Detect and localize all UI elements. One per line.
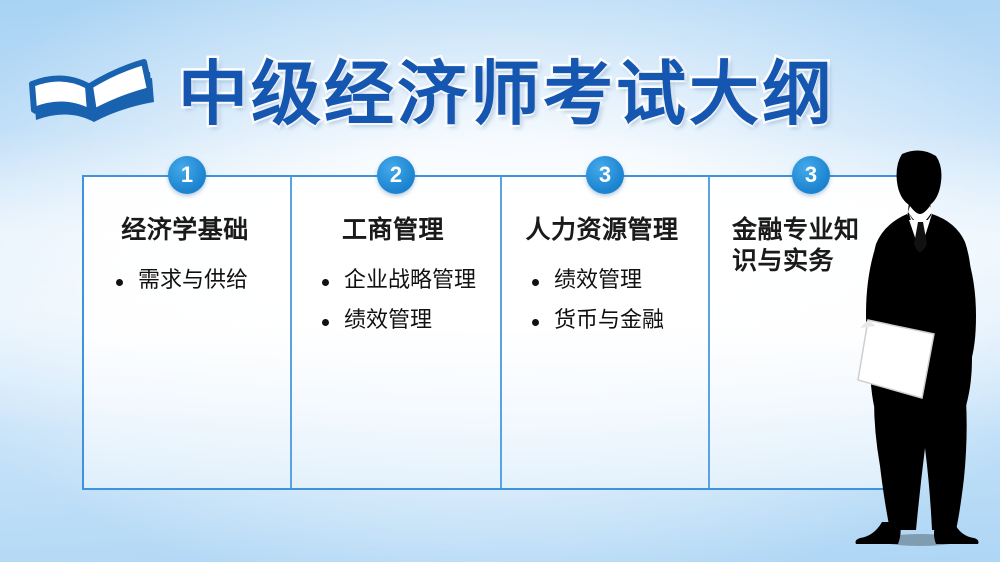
column-1[interactable]: 1 经济学基础 需求与供给	[82, 175, 288, 490]
column-title-2: 工商管理	[302, 215, 484, 246]
column-title-1: 经济学基础	[96, 215, 274, 246]
column-bullets-1: 需求与供给	[96, 270, 274, 292]
column-title-3: 人力资源管理	[512, 215, 692, 246]
column-bullets-3: 绩效管理 货币与金融	[512, 270, 692, 332]
column-badge-4: 3	[792, 156, 830, 194]
list-item: 企业战略管理	[320, 270, 484, 292]
column-3[interactable]: 3 人力资源管理 绩效管理 货币与金融	[498, 175, 706, 490]
column-badge-2: 2	[377, 156, 415, 194]
list-item: 绩效管理	[530, 270, 692, 292]
list-item: 绩效管理	[320, 310, 484, 332]
title-row: 中级经济师考试大纲	[0, 18, 1000, 138]
column-bullets-2: 企业战略管理 绩效管理	[302, 270, 484, 332]
open-book-icon	[24, 40, 164, 144]
columns-container: 1 经济学基础 需求与供给 2 工商管理 企业战略管理 绩效管理 3 人力资源管…	[82, 175, 920, 490]
businessman-silhouette-icon	[846, 148, 994, 548]
column-badge-3: 3	[586, 156, 624, 194]
slide-canvas: 中级经济师考试大纲 1 经济学基础 需求与供给 2 工商管理 企业战略管理 绩效…	[0, 0, 1000, 562]
list-item: 需求与供给	[114, 270, 274, 292]
list-item: 货币与金融	[530, 310, 692, 332]
page-title: 中级经济师考试大纲	[178, 38, 835, 139]
column-badge-1: 1	[168, 156, 206, 194]
column-2[interactable]: 2 工商管理 企业战略管理 绩效管理	[288, 175, 498, 490]
